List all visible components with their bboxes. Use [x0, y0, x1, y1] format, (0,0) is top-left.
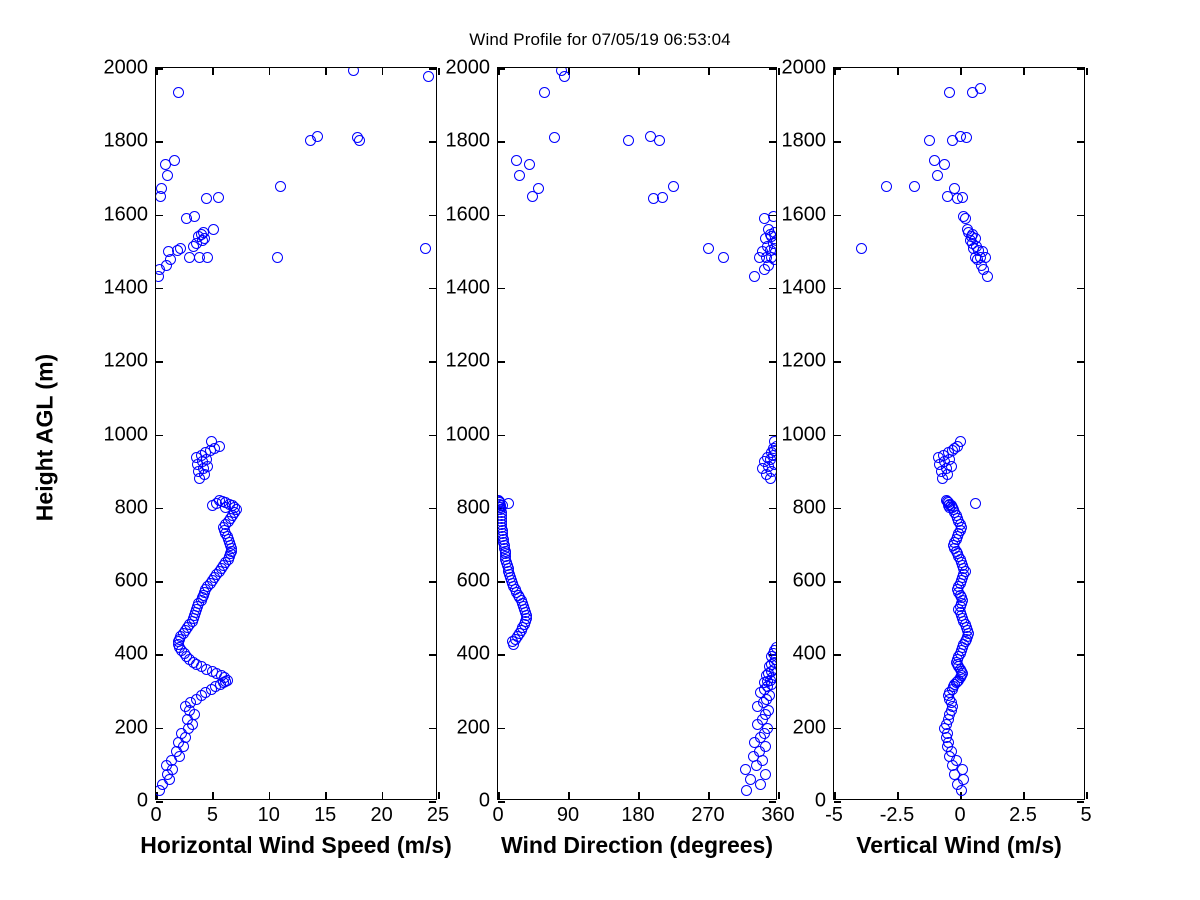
- panel-wind-direction: 0200400600800100012001400160018002000090…: [497, 67, 777, 800]
- y-tick-label: 400: [793, 643, 826, 666]
- data-point: [348, 68, 359, 76]
- x-tick-label: 15: [314, 804, 336, 827]
- panel-vertical-wind: 0200400600800100012001400160018002000-5-…: [833, 67, 1085, 800]
- data-point: [173, 87, 184, 98]
- y-tick: [769, 801, 776, 803]
- x-axis-label-vertical-wind: Vertical Wind (m/s): [856, 832, 1062, 859]
- y-tick-label: 1200: [446, 350, 491, 373]
- data-point: [955, 436, 966, 447]
- data-point: [939, 159, 950, 170]
- data-point: [208, 224, 219, 235]
- x-tick: [1086, 68, 1088, 75]
- y-tick-label: 1400: [104, 276, 149, 299]
- x-tick-label: 25: [427, 804, 449, 827]
- data-point: [970, 498, 981, 509]
- x-tick-label: 5: [207, 804, 218, 827]
- data-point: [201, 193, 212, 204]
- x-axis-label-wind-direction: Wind Direction (degrees): [501, 832, 773, 859]
- data-point: [755, 779, 766, 790]
- data-point: [957, 192, 968, 203]
- y-tick-label: 1000: [782, 423, 827, 446]
- data-point: [718, 252, 729, 263]
- y-tick: [1077, 801, 1084, 803]
- data-point: [423, 71, 434, 82]
- data-point: [498, 500, 508, 511]
- data-point: [769, 436, 776, 447]
- x-tick-label: 90: [557, 804, 579, 827]
- y-tick-label: 1800: [104, 130, 149, 153]
- data-point: [275, 181, 286, 192]
- x-tick: [778, 792, 780, 799]
- data-point: [961, 132, 972, 143]
- x-tick-label: 360: [761, 804, 794, 827]
- data-point: [944, 87, 955, 98]
- y-tick: [156, 801, 163, 803]
- y-tick-label: 2000: [446, 57, 491, 80]
- data-point: [703, 243, 714, 254]
- y-tick-label: 800: [793, 496, 826, 519]
- y-tick-label: 1200: [104, 350, 149, 373]
- y-tick-label: 200: [457, 716, 490, 739]
- y-tick-label: 1400: [446, 276, 491, 299]
- y-tick-label: 1600: [446, 203, 491, 226]
- y-tick-label: 1000: [446, 423, 491, 446]
- data-point: [760, 769, 771, 780]
- data-point: [654, 135, 665, 146]
- data-point: [189, 211, 200, 222]
- data-point: [549, 132, 560, 143]
- data-point: [909, 181, 920, 192]
- data-point: [881, 181, 892, 192]
- data-point: [559, 71, 570, 82]
- y-tick-label: 800: [457, 496, 490, 519]
- x-tick-label: 5: [1080, 804, 1091, 827]
- x-tick-label: 10: [258, 804, 280, 827]
- y-tick-label: 600: [115, 570, 148, 593]
- data-point: [856, 243, 867, 254]
- data-point: [623, 135, 634, 146]
- data-point: [668, 181, 679, 192]
- data-point: [524, 159, 535, 170]
- data-point: [354, 135, 365, 146]
- y-tick-label: 200: [793, 716, 826, 739]
- data-point: [213, 192, 224, 203]
- data-point: [760, 741, 771, 752]
- data-point: [169, 155, 180, 166]
- data-point: [539, 87, 550, 98]
- y-tick: [834, 801, 841, 803]
- wind-profile-figure: Wind Profile for 07/05/19 06:53:04 Heigh…: [0, 0, 1200, 900]
- data-point: [175, 243, 186, 254]
- data-point: [511, 155, 522, 166]
- figure-title: Wind Profile for 07/05/19 06:53:04: [0, 30, 1200, 50]
- data-point: [420, 243, 431, 254]
- y-tick-label: 200: [115, 716, 148, 739]
- y-axis-label: Height AGL (m): [32, 308, 59, 568]
- plot-area-horizontal-wind-speed: [156, 68, 436, 799]
- data-point: [272, 252, 283, 263]
- x-tick: [438, 68, 440, 75]
- y-tick-label: 1800: [446, 130, 491, 153]
- data-point: [741, 785, 752, 796]
- x-tick: [778, 68, 780, 75]
- y-tick-label: 1600: [104, 203, 149, 226]
- x-axis-label-horizontal-wind-speed: Horizontal Wind Speed (m/s): [140, 832, 452, 859]
- data-point: [924, 135, 935, 146]
- data-point: [958, 211, 969, 222]
- panel-horizontal-wind-speed: 0200400600800100012001400160018002000051…: [155, 67, 437, 800]
- y-tick-label: 2000: [782, 57, 827, 80]
- data-point: [514, 170, 525, 181]
- x-tick: [438, 792, 440, 799]
- y-tick-label: 400: [457, 643, 490, 666]
- y-tick-label: 0: [137, 790, 148, 813]
- y-tick-label: 1200: [782, 350, 827, 373]
- x-tick: [1086, 792, 1088, 799]
- data-point: [745, 774, 756, 785]
- data-point: [749, 271, 760, 282]
- data-point: [975, 83, 986, 94]
- data-point: [312, 131, 323, 142]
- y-tick: [498, 801, 505, 803]
- y-tick-label: 400: [115, 643, 148, 666]
- y-tick-label: 600: [457, 570, 490, 593]
- data-point: [932, 170, 943, 181]
- x-tick-label: 180: [621, 804, 654, 827]
- y-tick-label: 2000: [104, 57, 149, 80]
- x-tick-label: -5: [825, 804, 843, 827]
- data-point: [657, 192, 668, 203]
- x-tick-label: 20: [370, 804, 392, 827]
- data-point: [768, 211, 776, 222]
- y-tick: [429, 801, 436, 803]
- plot-area-wind-direction: [498, 68, 776, 799]
- x-tick-label: 0: [150, 804, 161, 827]
- y-tick-label: 800: [115, 496, 148, 519]
- y-tick-label: 600: [793, 570, 826, 593]
- plot-area-vertical-wind: [834, 68, 1084, 799]
- x-tick-label: 0: [492, 804, 503, 827]
- x-tick-label: 270: [691, 804, 724, 827]
- x-tick-label: -2.5: [880, 804, 914, 827]
- y-tick-label: 1600: [782, 203, 827, 226]
- y-tick-label: 1400: [782, 276, 827, 299]
- data-point: [533, 183, 544, 194]
- y-tick-label: 1000: [104, 423, 149, 446]
- data-point: [957, 764, 968, 775]
- data-point: [202, 252, 213, 263]
- data-point: [156, 183, 167, 194]
- x-tick-label: 2.5: [1009, 804, 1037, 827]
- data-point: [162, 170, 173, 181]
- y-tick-label: 0: [479, 790, 490, 813]
- x-tick-label: 0: [954, 804, 965, 827]
- y-tick-label: 1800: [782, 130, 827, 153]
- data-point: [207, 500, 218, 511]
